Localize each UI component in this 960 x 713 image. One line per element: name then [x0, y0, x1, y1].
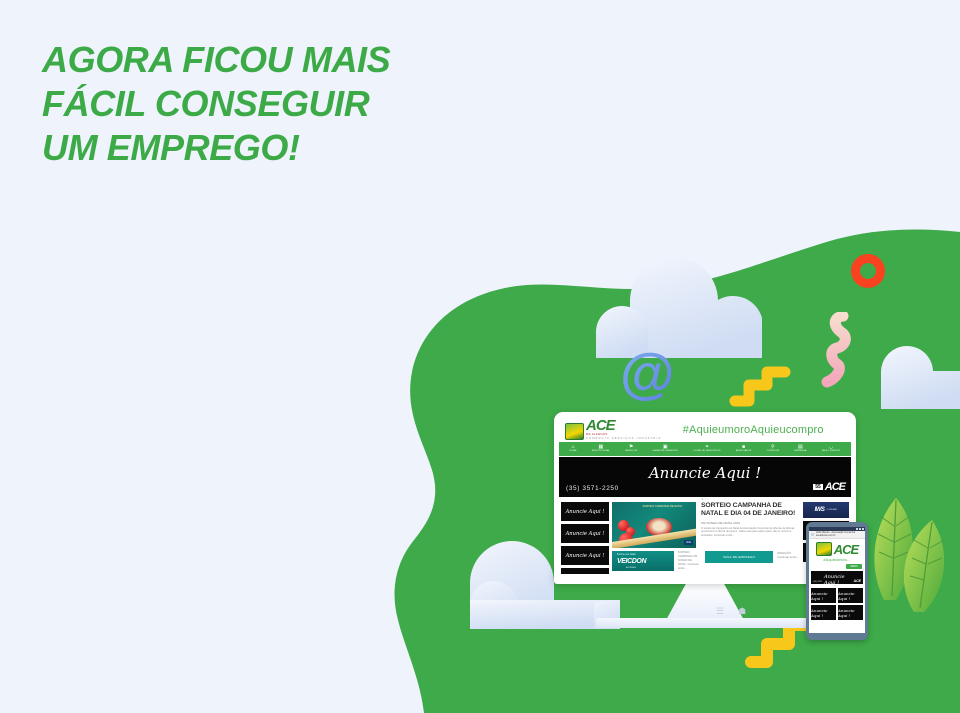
nav-label: INSTITUCIONAL: [592, 450, 610, 452]
hero-banner[interactable]: Anuncie Aqui ! (35) 3571-2250 55 ACE: [559, 457, 851, 497]
ace-emblem-icon: [816, 542, 832, 556]
card-caption: SORTEIO CAMPANHA UM SONHO DE NATAL. Cont…: [678, 551, 701, 570]
ring-shape-icon: [851, 254, 885, 288]
list-item[interactable]: Anuncie Aqui !: [561, 502, 609, 521]
ace-logo[interactable]: ACE DE ALFENAS COMÉRCIO SERVIÇOS INDÚSTR…: [565, 420, 661, 440]
ace-logo-word: ACE: [586, 420, 661, 432]
promo-image[interactable]: SORTEIO CAMPANHA DE NATAL ACE: [612, 502, 696, 548]
phone-menu-row[interactable]: MENU: [809, 564, 865, 571]
vendor-ad[interactable]: Ilumine seu Natal VEICDON ALFENAS: [612, 551, 674, 571]
nav-item-associados[interactable]: ■ ASSOCIADOS: [736, 445, 751, 452]
monitor-base: [596, 618, 816, 628]
banner-phone-number: (35) 3571-2250: [566, 485, 619, 492]
main-article-column: SORTEIO CAMPANHA DE NATAL ACE SORTEIO CA…: [612, 502, 800, 574]
secondary-row: Ilumine seu Natal VEICDON ALFENAS SORTEI…: [612, 551, 800, 571]
mobile-phone-mockup: ACE Alfenas - Associação Comercial aceal…: [806, 522, 868, 640]
phone-ace-logo[interactable]: ACE: [809, 539, 865, 557]
ace-logo-word: ACE: [834, 544, 858, 556]
phone-url-sub: acealfenas.com.br: [816, 534, 836, 537]
article-text: SORTEIO CAMPANHA DE NATAL E DIA 04 DE JA…: [700, 502, 800, 548]
attention-note: ATENÇÃO! Continuar lendo...: [777, 551, 800, 559]
menu-button[interactable]: MENU: [846, 564, 862, 569]
left-ad-column: Anuncie Aqui ! Anuncie Aqui ! Anuncie Aq…: [561, 502, 609, 574]
nav-label: SERVIÇOS: [625, 450, 637, 452]
site-header: ACE DE ALFENAS COMÉRCIO SERVIÇOS INDÚSTR…: [559, 417, 851, 442]
vendor-ad-name: VEICDON: [617, 558, 646, 565]
nav-item-fale-conosco[interactable]: ◡ FALE CONOSCO: [822, 445, 840, 452]
nav-label: CLUBE DE DESCONTOS: [693, 450, 720, 452]
back-icon[interactable]: [811, 533, 814, 536]
phone-banner-phone: (35) 3571: [813, 581, 822, 583]
ad-label: Anuncie Aqui !: [811, 608, 836, 618]
phone-address-bar[interactable]: ACE Alfenas - Associação Comercial aceal…: [809, 531, 865, 539]
banner-ace-logo: 55 ACE: [813, 481, 845, 493]
ad-label: Anuncie Aqui !: [838, 591, 863, 601]
nav-item-home[interactable]: ⌂ HOME: [570, 445, 577, 452]
nav-item-servicos[interactable]: ⚑ SERVIÇOS: [625, 445, 637, 452]
phone-ad-grid: Anuncie Aqui ! Anuncie Aqui ! Anuncie Aq…: [809, 588, 865, 620]
article-row: SORTEIO CAMPANHA DE NATAL ACE SORTEIO CA…: [612, 502, 800, 548]
nav-item-imprensa[interactable]: ▤ IMPRENSA: [794, 445, 806, 452]
article-body: O sorteio da Campanha de Natal da Associ…: [701, 527, 800, 538]
promo-image-headline: SORTEIO CAMPANHA DE NATAL: [637, 505, 687, 513]
banner-logo-word: ACE: [825, 481, 845, 493]
nav-label: CONSULTA: [767, 450, 779, 452]
nav-label: IMPRENSA: [794, 450, 806, 452]
site-navbar[interactable]: ⌂ HOME ▦ INSTITUCIONAL ⚑ SERVIÇOS ▣ CADA…: [559, 442, 851, 456]
ad-label: Anuncie Aqui !: [566, 553, 605, 559]
ad-sub: CONTÁBIL: [826, 509, 837, 511]
banner-script-text: Anuncie Aqui !: [649, 464, 761, 482]
list-item[interactable]: [561, 568, 609, 574]
ace-emblem-icon: [565, 423, 584, 440]
nav-label: HOME: [570, 450, 577, 452]
ad-word: IWS: [815, 507, 825, 513]
nav-item-cadastro-negativo[interactable]: ▣ CADASTRO NEGATIVO: [652, 445, 678, 452]
phone-banner-logo: ACE: [854, 579, 861, 583]
list-item[interactable]: Anuncie Aqui !: [811, 605, 836, 620]
list-item[interactable]: IWS CONTÁBIL: [803, 502, 849, 518]
monitor-nav-buttons[interactable]: ☰ ☗: [716, 606, 776, 618]
home-icon[interactable]: ☗: [738, 606, 746, 618]
ad-label: Anuncie Aqui !: [811, 591, 836, 601]
vendor-ad-top: Ilumine seu Natal: [617, 553, 635, 556]
article-subtitle: UM SONHO DE NATAL 2019: [701, 521, 800, 525]
ad-label: Anuncie Aqui !: [566, 509, 605, 515]
phone-banner-script: Anuncie Aqui !: [824, 574, 850, 586]
squiggle-shape-icon: [817, 312, 857, 392]
article-title: SORTEIO CAMPANHA DE NATAL E DIA 04 DE JA…: [701, 502, 800, 519]
phone-hashtag: #Aquieumoro...: [809, 557, 865, 564]
leaf-decoration-icon: [862, 492, 960, 614]
nav-item-clube-descontos[interactable]: ⚭ CLUBE DE DESCONTOS: [693, 445, 720, 452]
phone-screen: ACE Alfenas - Associação Comercial aceal…: [809, 527, 865, 633]
slide-canvas: AGORA FICOU MAIS FÁCIL CONSEGUIR UM EMPR…: [0, 0, 960, 713]
nav-label: ASSOCIADOS: [736, 450, 751, 452]
list-item[interactable]: Anuncie Aqui !: [838, 605, 863, 620]
signal-icon: [856, 528, 858, 530]
nav-item-institucional[interactable]: ▦ INSTITUCIONAL: [592, 445, 610, 452]
ad-label: Anuncie Aqui !: [566, 531, 605, 537]
wifi-icon: [859, 528, 861, 530]
menu-icon[interactable]: ☰: [716, 606, 724, 618]
list-item[interactable]: Anuncie Aqui !: [561, 524, 609, 543]
at-symbol-icon: @: [620, 345, 675, 401]
battery-icon: [862, 528, 864, 530]
vendor-ad-sub: ALFENAS: [626, 567, 636, 569]
zigzag-shape-upper-icon: [729, 365, 791, 407]
ad-label: Anuncie Aqui !: [838, 608, 863, 618]
ace-logo-sub: DE ALFENAS: [586, 432, 661, 436]
list-item[interactable]: Anuncie Aqui !: [838, 588, 863, 603]
phone-hero-banner[interactable]: Anuncie Aqui ! (35) 3571 ACE: [811, 571, 863, 584]
site-hashtag: #AquieumoroAquieucompro: [661, 424, 845, 436]
nav-label: FALE CONOSCO: [822, 450, 840, 452]
list-item[interactable]: Anuncie Aqui !: [811, 588, 836, 603]
vaga-emprego-button[interactable]: VAGA DE EMPREGO: [705, 551, 773, 563]
nav-label: CADASTRO NEGATIVO: [652, 450, 678, 452]
banner-logo-box: 55: [813, 484, 823, 490]
nav-item-consulta[interactable]: ⚲ CONSULTA: [767, 445, 779, 452]
ace-logo-tagline: COMÉRCIO SERVIÇOS INDÚSTRIA: [586, 437, 661, 440]
promo-badge: ACE: [684, 540, 693, 545]
page-title: AGORA FICOU MAIS FÁCIL CONSEGUIR UM EMPR…: [42, 38, 390, 170]
list-item[interactable]: Anuncie Aqui !: [561, 546, 609, 565]
